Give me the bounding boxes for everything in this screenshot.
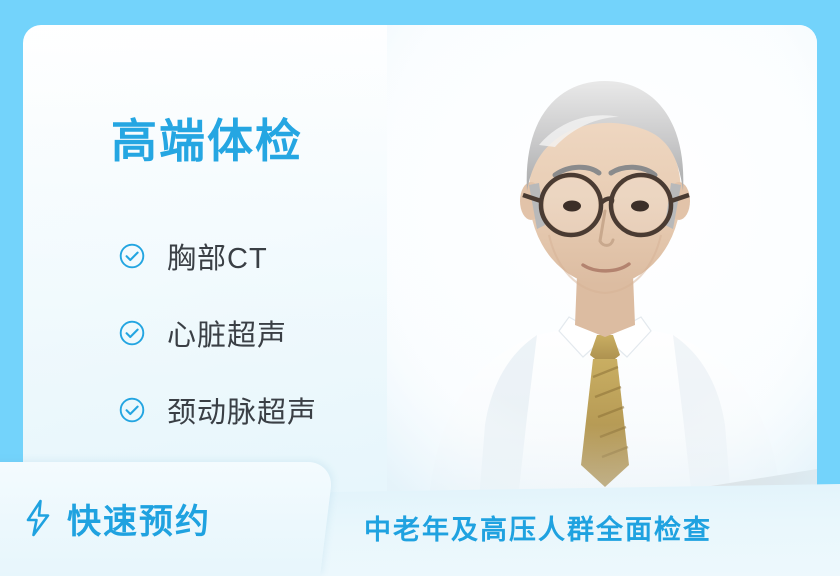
check-circle-icon (119, 243, 145, 269)
page-title: 高端体检 (111, 118, 303, 164)
quick-booking-button[interactable]: 快速预约 (23, 492, 211, 544)
list-item-label: 心脏超声 (167, 312, 287, 354)
quick-booking-label: 快速预约 (67, 494, 211, 543)
check-circle-icon (119, 397, 145, 423)
health-checkup-promo-banner: 高端体检 胸部CT 心脏超声 (0, 0, 840, 576)
list-item: 颈动脉超声 (119, 371, 317, 448)
doctor-portrait (387, 25, 817, 525)
tagline-text: 中老年及高压人群全面检查 (364, 508, 784, 547)
list-item: 心脏超声 (119, 294, 317, 371)
lightning-bolt-icon (23, 499, 53, 537)
list-item-label: 颈动脉超声 (167, 389, 317, 431)
list-item: 胸部CT (119, 217, 317, 294)
check-circle-icon (119, 320, 145, 346)
feature-list: 胸部CT 心脏超声 颈动脉超声 (119, 217, 317, 448)
list-item-label: 胸部CT (167, 235, 268, 277)
